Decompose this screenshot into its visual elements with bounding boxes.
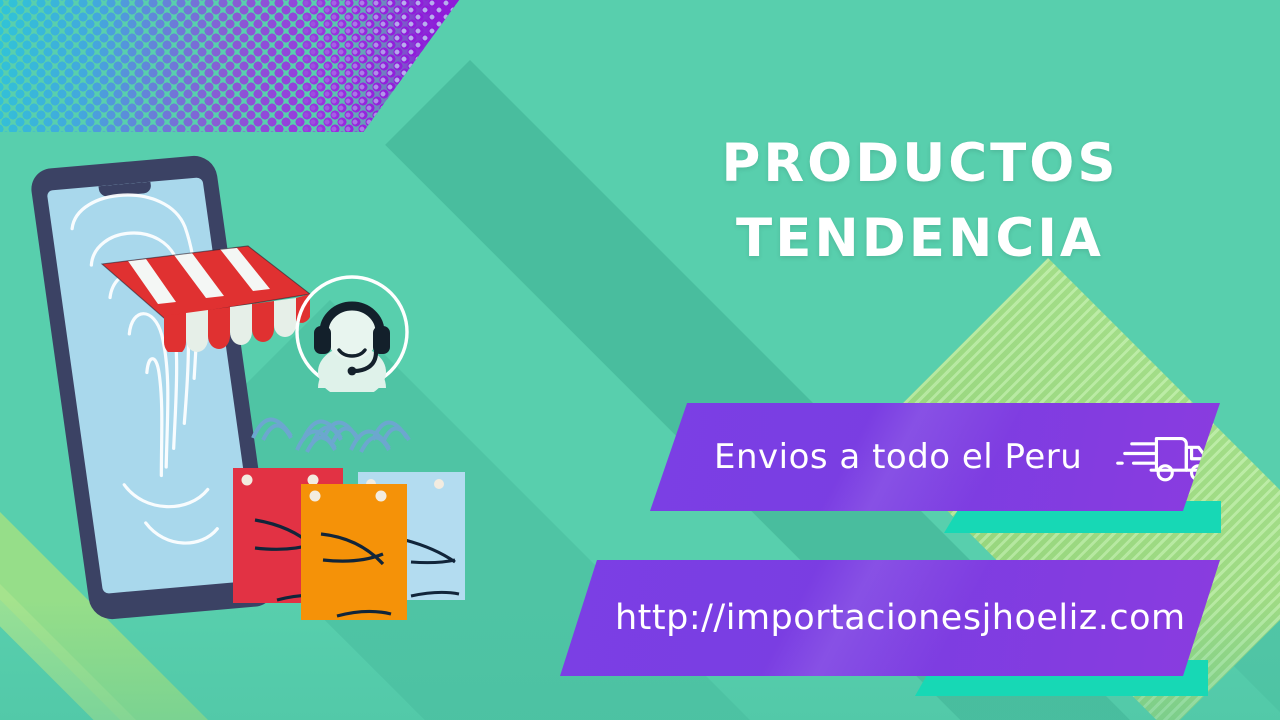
shopping-bags-illustration bbox=[215, 400, 505, 650]
headline-line-2: TENDENCIA bbox=[640, 201, 1200, 276]
promo-banner: PRODUCTOS TENDENCIA Envios a todo el Per… bbox=[0, 0, 1280, 720]
website-banner[interactable]: http://importacionesjhoeliz.com bbox=[560, 560, 1220, 676]
page-title: PRODUCTOS TENDENCIA bbox=[640, 126, 1200, 277]
shop-awning-icon bbox=[98, 242, 313, 352]
shipping-text: Envios a todo el Peru bbox=[714, 437, 1082, 477]
orange-shopping-bag bbox=[297, 431, 407, 620]
website-url-text[interactable]: http://importacionesjhoeliz.com bbox=[615, 598, 1186, 638]
headline-line-1: PRODUCTOS bbox=[721, 133, 1118, 194]
customer-support-avatar-icon bbox=[292, 272, 412, 392]
shipping-banner: Envios a todo el Peru bbox=[650, 403, 1220, 511]
